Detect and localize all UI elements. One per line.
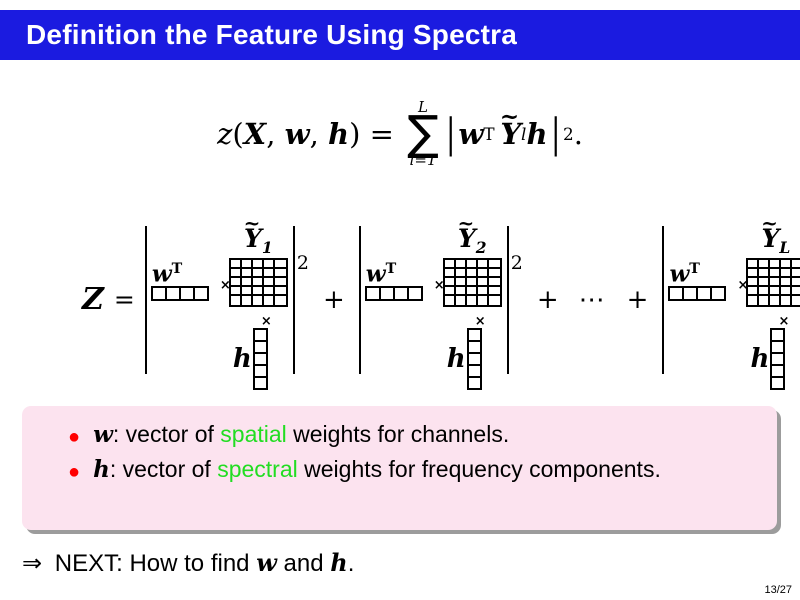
list-item: ● w: vector of spatial weights for chann… bbox=[44, 420, 755, 449]
matrix-cell bbox=[478, 278, 489, 287]
y-matrix-group: ~YL bbox=[746, 226, 800, 308]
block-equation: Z = wT × ~Y1 bbox=[0, 212, 800, 387]
vector-cell bbox=[469, 378, 480, 388]
tilde-accent-icon: ~ bbox=[500, 103, 519, 130]
block-equation-inner: Z = wT × ~Y1 bbox=[0, 212, 800, 387]
term-body: wT × ~Y2 × bbox=[361, 226, 507, 374]
h-vector-group: h bbox=[447, 328, 482, 390]
matrix-cell bbox=[759, 260, 770, 269]
block-term-2: wT × ~Y2 × bbox=[359, 226, 523, 374]
eq-arg-w: w bbox=[285, 117, 310, 151]
tilde-accent-icon: ~ bbox=[761, 213, 778, 233]
h-col-vector bbox=[253, 328, 268, 390]
tilde-accent-icon: ~ bbox=[244, 213, 261, 233]
vector-cell bbox=[167, 288, 181, 299]
w-vector-label: wT bbox=[669, 262, 699, 286]
block-plus-1: + bbox=[323, 285, 345, 315]
matrix-cell bbox=[264, 269, 275, 278]
matrix-cell bbox=[489, 278, 500, 287]
abs-bar-right: | bbox=[551, 118, 560, 150]
term-exponent: 2 bbox=[511, 252, 523, 274]
matrix-cell bbox=[792, 260, 800, 269]
block-z-label: Z bbox=[82, 282, 104, 317]
w-row-vector bbox=[668, 286, 726, 301]
h-col-vector bbox=[770, 328, 785, 390]
matrix-cell bbox=[231, 287, 242, 296]
sum-lower-limit: l=1 bbox=[410, 153, 437, 168]
matrix-cell bbox=[231, 260, 242, 269]
block-term-3: wT × ~YL × bbox=[662, 226, 800, 374]
bullet-text: h: vector of spectral weights for freque… bbox=[93, 455, 661, 484]
matrix-cell bbox=[467, 287, 478, 296]
y-matrix-grid bbox=[443, 258, 502, 307]
block-plus-3: + bbox=[627, 285, 649, 315]
term-body: wT × ~Y1 × bbox=[147, 226, 293, 374]
matrix-cell bbox=[770, 296, 781, 305]
vector-cell bbox=[395, 288, 409, 299]
matrix-cell bbox=[781, 260, 792, 269]
eq-body-w-transpose: T bbox=[483, 124, 494, 144]
h-vector-group: h bbox=[750, 328, 785, 390]
matrix-cell bbox=[253, 287, 264, 296]
vector-cell bbox=[255, 330, 266, 342]
matrix-cell bbox=[467, 269, 478, 278]
w-vector-group: wT bbox=[151, 262, 209, 302]
eq-body-w: w bbox=[458, 117, 483, 151]
multiply-icon-vertical: × bbox=[475, 314, 486, 329]
vector-cell bbox=[367, 288, 381, 299]
slide-title-bar: Definition the Feature Using Spectra bbox=[0, 10, 800, 60]
eq-lhs-open-paren: ( bbox=[232, 117, 243, 151]
matrix-cell bbox=[781, 287, 792, 296]
matrix-cell bbox=[770, 260, 781, 269]
w-row-vector bbox=[151, 286, 209, 301]
term-exponent: 2 bbox=[297, 252, 309, 274]
matrix-cell bbox=[253, 278, 264, 287]
w-vector-label: wT bbox=[152, 262, 182, 286]
matrix-cell bbox=[242, 296, 253, 305]
multiply-icon-vertical: × bbox=[778, 314, 789, 329]
matrix-cell bbox=[759, 296, 770, 305]
double-arrow-icon: ⇒ bbox=[22, 549, 42, 577]
matrix-cell bbox=[792, 278, 800, 287]
tilde-accent-icon: ~ bbox=[457, 213, 474, 233]
matrix-cell bbox=[792, 287, 800, 296]
matrix-cell bbox=[759, 278, 770, 287]
vector-cell bbox=[712, 288, 724, 299]
page-number: 13/27 bbox=[764, 584, 792, 596]
matrix-cell bbox=[275, 260, 286, 269]
matrix-cell bbox=[467, 260, 478, 269]
matrix-cell bbox=[489, 269, 500, 278]
next-statement: ⇒ NEXT: How to find w and h. bbox=[22, 548, 354, 578]
sigma-icon: ∑ bbox=[407, 112, 439, 155]
vector-cell bbox=[255, 378, 266, 388]
matrix-cell bbox=[792, 296, 800, 305]
h-vector-label: h bbox=[750, 346, 769, 372]
matrix-cell bbox=[478, 269, 489, 278]
matrix-cell bbox=[253, 296, 264, 305]
vector-cell bbox=[255, 354, 266, 366]
next-suffix: . bbox=[348, 550, 355, 577]
matrix-cell bbox=[748, 296, 759, 305]
y-matrix-label: ~Y2 bbox=[458, 226, 487, 256]
y-matrix-label: ~Y1 bbox=[244, 226, 273, 256]
vector-cell bbox=[469, 354, 480, 366]
matrix-cell bbox=[478, 287, 489, 296]
vector-cell bbox=[670, 288, 684, 299]
vector-cell bbox=[684, 288, 698, 299]
matrix-cell bbox=[275, 287, 286, 296]
vector-cell bbox=[409, 288, 421, 299]
h-vector-group: h bbox=[233, 328, 268, 390]
term-bar-right bbox=[293, 226, 295, 374]
block-plus-2: + bbox=[537, 285, 559, 315]
matrix-cell bbox=[792, 269, 800, 278]
vector-cell bbox=[772, 378, 783, 388]
matrix-cell bbox=[489, 296, 500, 305]
vector-cell bbox=[381, 288, 395, 299]
matrix-cell bbox=[445, 269, 456, 278]
vector-cell bbox=[255, 342, 266, 354]
matrix-cell bbox=[489, 260, 500, 269]
matrix-cell bbox=[781, 296, 792, 305]
matrix-cell bbox=[231, 278, 242, 287]
summation-operator: L ∑ l=1 bbox=[407, 100, 439, 168]
matrix-cell bbox=[445, 296, 456, 305]
vector-cell bbox=[772, 342, 783, 354]
matrix-cell bbox=[264, 260, 275, 269]
y-matrix-label: ~YL bbox=[762, 226, 791, 256]
matrix-cell bbox=[748, 278, 759, 287]
matrix-cell bbox=[748, 269, 759, 278]
vector-cell bbox=[255, 366, 266, 378]
matrix-cell bbox=[467, 278, 478, 287]
bullet-text: w: vector of spatial weights for channel… bbox=[93, 420, 509, 449]
next-prefix: NEXT: How to find bbox=[48, 550, 256, 577]
y-matrix-group: ~Y2 bbox=[443, 226, 502, 308]
matrix-cell bbox=[478, 296, 489, 305]
term-bar-right bbox=[507, 226, 509, 374]
bullet-highlight: spatial bbox=[220, 421, 286, 447]
eq-period: . bbox=[574, 117, 583, 151]
eq-lhs-close-paren: ) bbox=[349, 117, 360, 151]
bullet-dot-icon: ● bbox=[68, 462, 80, 482]
main-equation-row: z(X, w, h) = L ∑ l=1 |wT ~Ylh|2. bbox=[217, 100, 583, 168]
w-vector-label: wT bbox=[366, 262, 396, 286]
matrix-cell bbox=[445, 260, 456, 269]
block-term-1: wT × ~Y1 × bbox=[145, 226, 309, 374]
bullet-part: : vector of bbox=[110, 456, 217, 482]
eq-body-h: h bbox=[526, 117, 547, 151]
main-equation: z(X, w, h) = L ∑ l=1 |wT ~Ylh|2. bbox=[0, 100, 800, 168]
vector-cell bbox=[469, 366, 480, 378]
matrix-cell bbox=[759, 287, 770, 296]
matrix-cell bbox=[770, 269, 781, 278]
next-symbol-h: h bbox=[330, 548, 347, 577]
h-col-vector bbox=[467, 328, 482, 390]
w-vector-group: wT bbox=[365, 262, 423, 302]
vector-cell bbox=[469, 342, 480, 354]
bullet-dot-icon: ● bbox=[68, 427, 80, 447]
matrix-cell bbox=[489, 287, 500, 296]
eq-exponent: 2 bbox=[563, 124, 574, 144]
matrix-cell bbox=[467, 296, 478, 305]
matrix-cell bbox=[253, 260, 264, 269]
matrix-cell bbox=[748, 287, 759, 296]
h-vector-label: h bbox=[447, 346, 466, 372]
bullet-part: : vector of bbox=[113, 421, 220, 447]
vector-cell bbox=[698, 288, 712, 299]
matrix-cell bbox=[456, 296, 467, 305]
matrix-cell bbox=[242, 260, 253, 269]
matrix-cell bbox=[242, 278, 253, 287]
matrix-cell bbox=[456, 278, 467, 287]
y-matrix-grid bbox=[746, 258, 800, 307]
matrix-cell bbox=[456, 287, 467, 296]
eq-comma-1: , bbox=[266, 117, 275, 151]
vector-cell bbox=[195, 288, 207, 299]
vector-cell bbox=[153, 288, 167, 299]
matrix-cell bbox=[759, 269, 770, 278]
bullet-part: weights for frequency components. bbox=[298, 456, 661, 482]
y-matrix-group: ~Y1 bbox=[229, 226, 288, 308]
eq-comma-2: , bbox=[310, 117, 319, 151]
matrix-cell bbox=[445, 287, 456, 296]
vector-cell bbox=[181, 288, 195, 299]
matrix-cell bbox=[242, 269, 253, 278]
vector-cell bbox=[772, 330, 783, 342]
eq-body-Y-tilde-wrap: ~Y bbox=[500, 117, 521, 151]
block-ellipsis: ⋯ bbox=[579, 285, 607, 315]
matrix-cell bbox=[231, 269, 242, 278]
w-row-vector bbox=[365, 286, 423, 301]
matrix-cell bbox=[264, 296, 275, 305]
page-title: Definition the Feature Using Spectra bbox=[26, 19, 517, 51]
vector-cell bbox=[469, 330, 480, 342]
bullet-part: weights for channels. bbox=[287, 421, 509, 447]
bullet-symbol: w bbox=[93, 421, 113, 448]
term-body: wT × ~YL × bbox=[664, 226, 800, 374]
block-equals-sign: = bbox=[114, 285, 135, 314]
matrix-cell bbox=[264, 287, 275, 296]
vector-cell bbox=[772, 354, 783, 366]
y-matrix-grid bbox=[229, 258, 288, 307]
multiply-icon-vertical: × bbox=[261, 314, 272, 329]
matrix-cell bbox=[275, 278, 286, 287]
matrix-cell bbox=[770, 278, 781, 287]
matrix-cell bbox=[748, 260, 759, 269]
eq-arg-h: h bbox=[328, 117, 349, 151]
eq-equals-sign: = bbox=[370, 117, 394, 151]
matrix-cell bbox=[456, 260, 467, 269]
matrix-cell bbox=[231, 296, 242, 305]
definition-callout-box: ● w: vector of spatial weights for chann… bbox=[22, 406, 777, 530]
matrix-cell bbox=[781, 278, 792, 287]
vector-cell bbox=[772, 366, 783, 378]
eq-lhs-z: z bbox=[217, 117, 232, 151]
matrix-cell bbox=[253, 269, 264, 278]
matrix-cell bbox=[242, 287, 253, 296]
bullet-symbol: h bbox=[93, 456, 110, 483]
w-vector-group: wT bbox=[668, 262, 726, 302]
list-item: ● h: vector of spectral weights for freq… bbox=[44, 455, 755, 484]
matrix-cell bbox=[445, 278, 456, 287]
eq-arg-X: X bbox=[244, 117, 267, 151]
bullet-highlight: spectral bbox=[217, 456, 298, 482]
next-middle: and bbox=[277, 550, 330, 577]
matrix-cell bbox=[478, 260, 489, 269]
matrix-cell bbox=[275, 269, 286, 278]
next-symbol-w: w bbox=[256, 548, 277, 577]
matrix-cell bbox=[781, 269, 792, 278]
matrix-cell bbox=[456, 269, 467, 278]
h-vector-label: h bbox=[233, 346, 252, 372]
matrix-cell bbox=[770, 287, 781, 296]
matrix-cell bbox=[264, 278, 275, 287]
abs-bar-left: | bbox=[446, 118, 455, 150]
matrix-cell bbox=[275, 296, 286, 305]
